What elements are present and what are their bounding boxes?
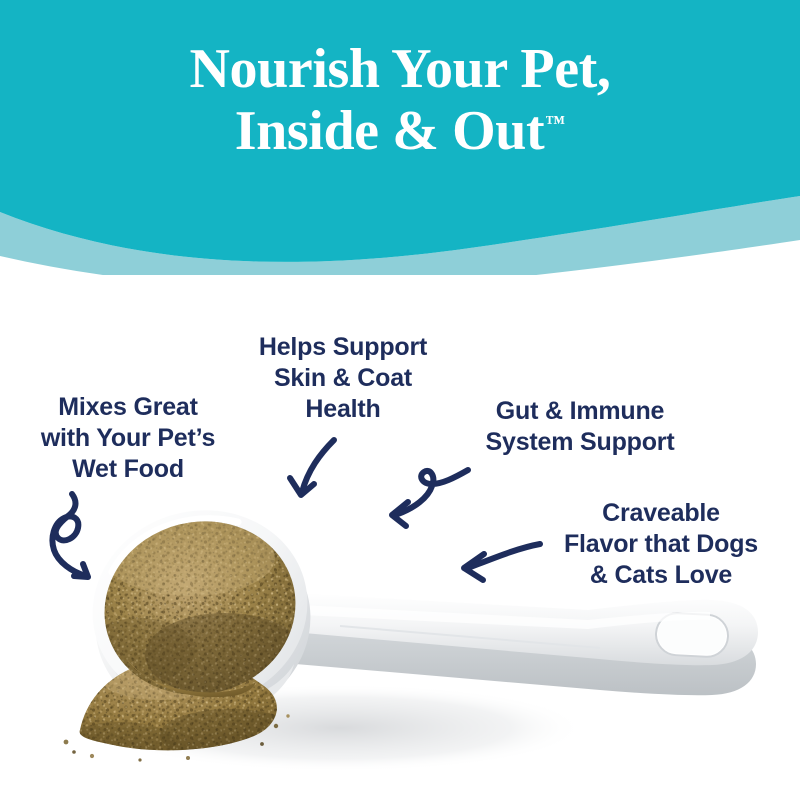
- callout-mixes-line-3: Wet Food: [14, 454, 242, 485]
- callout-skin-line-1: Helps Support: [234, 332, 452, 363]
- headline-line-2-text: Inside & Out: [235, 100, 545, 162]
- headline-line-2: Inside & Out™: [0, 100, 800, 162]
- callout-flavor-line-2: Flavor that Dogs: [530, 529, 792, 560]
- callout-skin-line-3: Health: [234, 394, 452, 425]
- callout-gut-line-2: System Support: [460, 427, 700, 458]
- loop-arrow-down-left-icon: [378, 458, 478, 548]
- page-title: Nourish Your Pet, Inside & Out™: [0, 38, 800, 162]
- curved-arrow-down-icon: [278, 436, 348, 508]
- callout-flavor-line-3: & Cats Love: [530, 560, 792, 591]
- infographic-canvas: Nourish Your Pet, Inside & Out™: [0, 0, 800, 800]
- callout-skin-line-2: Skin & Coat: [234, 363, 452, 394]
- callout-skin-coat-health: Helps Support Skin & Coat Health: [234, 332, 452, 425]
- callout-flavor-line-1: Craveable: [530, 498, 792, 529]
- header-banner: Nourish Your Pet, Inside & Out™: [0, 0, 800, 275]
- callout-gut-line-1: Gut & Immune: [460, 396, 700, 427]
- callout-craveable-flavor: Craveable Flavor that Dogs & Cats Love: [530, 498, 792, 591]
- headline-line-1: Nourish Your Pet,: [0, 38, 800, 100]
- callout-mixes-line-1: Mixes Great: [14, 392, 242, 423]
- curly-loop-arrow-down-right-icon: [42, 488, 132, 598]
- callout-mixes-line-2: with Your Pet’s: [14, 423, 242, 454]
- callout-gut-immune-support: Gut & Immune System Support: [460, 396, 700, 458]
- curved-arrow-left-icon: [450, 538, 546, 594]
- trademark-symbol: ™: [545, 112, 565, 134]
- callout-mixes-great: Mixes Great with Your Pet’s Wet Food: [14, 392, 242, 485]
